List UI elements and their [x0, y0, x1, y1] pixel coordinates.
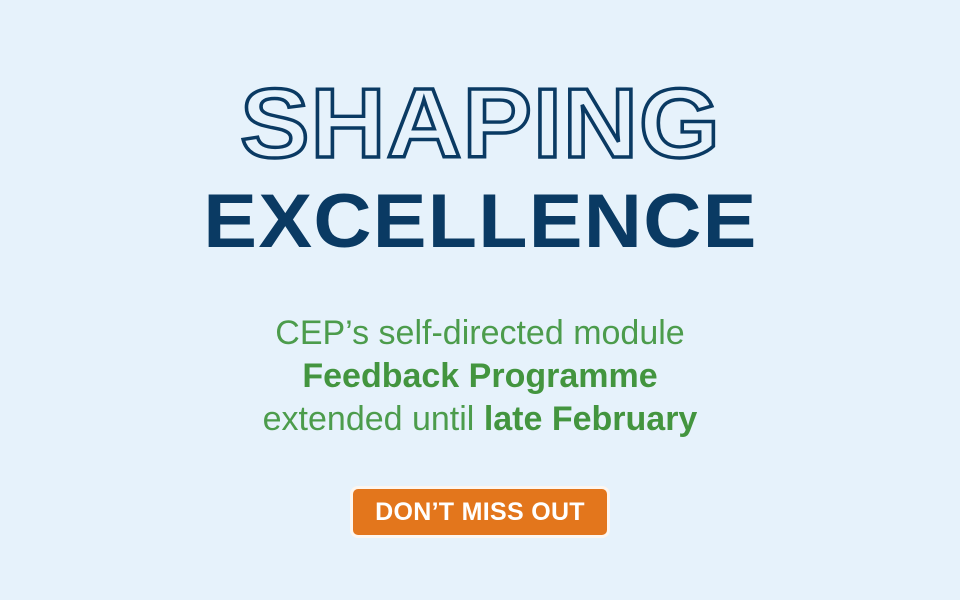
headline-block: SHAPING EXCELLENCE	[219, 74, 742, 260]
subtitle-line-module: CEP’s self-directed module	[263, 312, 698, 355]
headline-line-excellence: EXCELLENCE	[203, 184, 757, 260]
subtitle-block: CEP’s self-directed module Feedback Prog…	[263, 312, 698, 440]
subtitle-line-programme: Feedback Programme	[263, 355, 698, 398]
subtitle-line-extension: extended until late February	[263, 398, 698, 441]
cta-container: DON’T MISS OUT	[350, 486, 610, 538]
dont-miss-out-button[interactable]: DON’T MISS OUT	[350, 486, 610, 538]
promo-banner: SHAPING EXCELLENCE CEP’s self-directed m…	[0, 0, 960, 600]
subtitle-extension-date: late February	[484, 400, 698, 438]
subtitle-extension-prefix: extended until	[263, 400, 484, 438]
headline-line-shaping: SHAPING	[203, 74, 757, 172]
